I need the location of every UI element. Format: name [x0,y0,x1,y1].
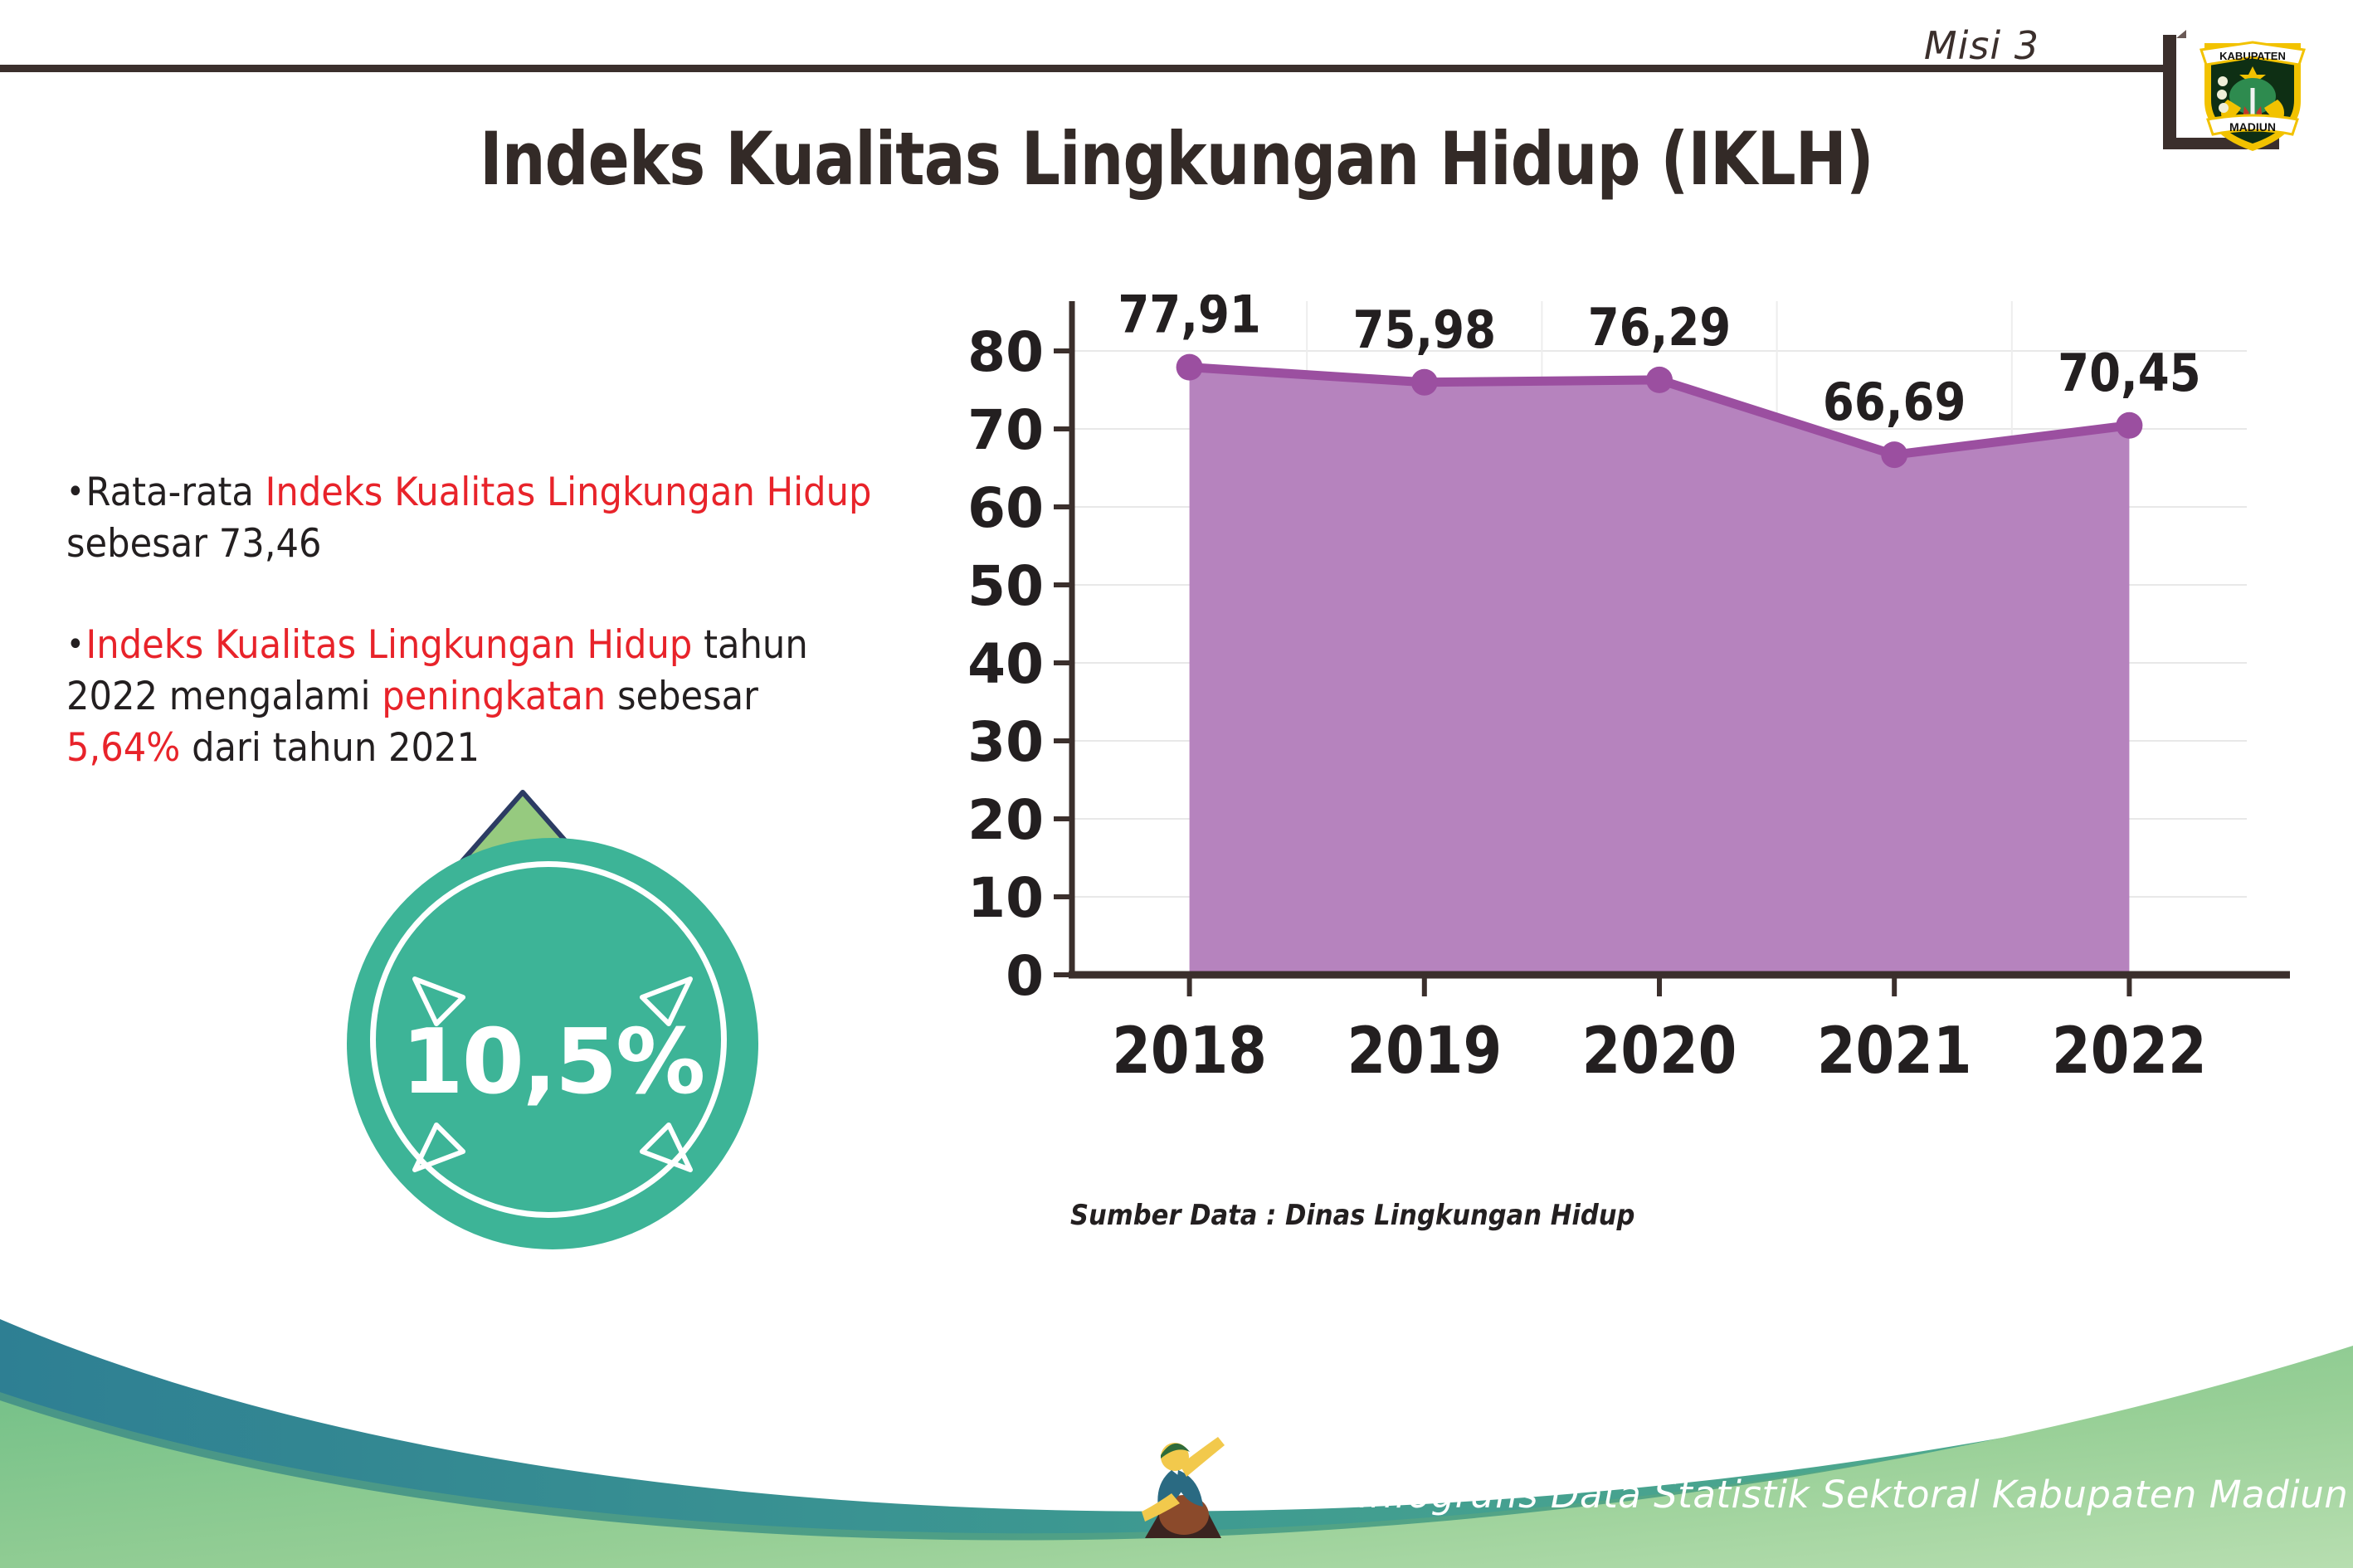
media-infografis-logo-icon [1138,1432,1230,1553]
y-axis-tick-label: 60 [967,476,1044,540]
bullet-dot: • [66,628,85,661]
bullet-dot: • [66,475,85,509]
chart-canvas: 77,9175,9876,2966,6970,45010203040506070… [962,295,2290,1191]
chart-area-fill [1190,368,2130,975]
chart-value-label: 76,29 [1588,298,1732,358]
y-axis-tick-label: 30 [967,710,1044,774]
y-axis-tick-label: 20 [967,788,1044,852]
misi-label: Misi 3 [1924,23,2039,68]
bullet-1-seg4: sebesar [606,674,758,719]
page-title: Indeks Kualitas Lingkungan Hidup (IKLH) [188,116,2165,202]
badge-value: 10,5% [347,1010,758,1114]
y-axis-tick-label: 70 [967,398,1044,462]
chart-data-point[interactable] [1176,354,1203,381]
bullet-1-seg5-highlight: 5,64% [66,725,180,771]
chart-data-point[interactable] [1881,441,1907,468]
chart-value-label: 66,69 [1823,373,1966,432]
bullet-0-seg1: Rata-rata [86,470,266,515]
bullet-0-seg2-highlight: Indeks Kualitas Lingkungan Hidup [266,470,872,515]
x-axis-category-label: 2020 [1582,1013,1737,1088]
y-axis-tick-label: 80 [967,320,1044,384]
x-axis-category-label: 2019 [1347,1013,1502,1088]
increase-badge: 10,5% [332,747,780,1211]
chart-value-label: 70,45 [2058,343,2201,402]
logo-bracket-vertical [2163,35,2176,149]
logo-bracket-corner [2176,30,2186,38]
chart-value-label: 77,91 [1118,295,1261,345]
chart-data-point[interactable] [1646,367,1673,393]
chart-data-point[interactable] [1411,369,1438,396]
logo-bottom-text: MADIUN [2229,120,2276,134]
x-axis-category-label: 2021 [1817,1013,1972,1088]
bullet-0-seg3: sebesar 73,46 [66,521,322,567]
x-axis-category-label: 2022 [2052,1013,2207,1088]
bullet-1-seg1-highlight: Indeks Kualitas Lingkungan Hidup [86,622,693,668]
footer-caption: Media Infografis Data Statistik Sektoral… [1232,1473,2353,1517]
y-axis-tick-label: 10 [967,866,1044,930]
logo-top-text: KABUPATEN [2219,50,2286,62]
bullet-1-seg3-highlight: peningkatan [382,674,606,719]
iklh-area-chart: 77,9175,9876,2966,6970,45010203040506070… [962,295,2290,1290]
chart-source-note: Sumber Data : Dinas Lingkungan Hidup [1070,1199,1634,1232]
header-rule [0,65,2170,72]
kabupaten-madiun-logo-icon: KABUPATEN MADIUN [2195,30,2311,153]
chart-data-point[interactable] [2116,412,2142,439]
y-axis-tick-label: 0 [1006,944,1044,1008]
chart-value-label: 75,98 [1353,299,1497,359]
y-axis-tick-label: 40 [967,632,1044,696]
y-axis-tick-label: 50 [967,554,1044,618]
list-item: •Rata-rata Indeks Kualitas Lingkungan Hi… [66,467,875,570]
x-axis-category-label: 2018 [1112,1013,1267,1088]
